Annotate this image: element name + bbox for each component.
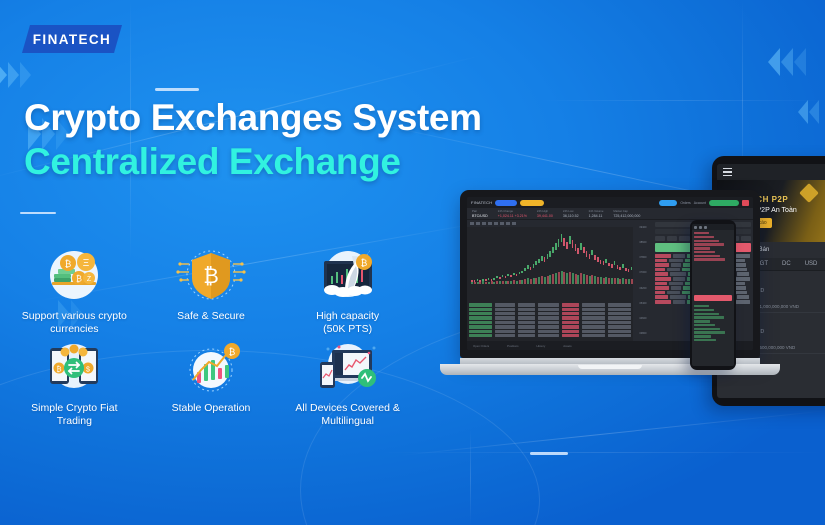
footer-tab-assets[interactable]: Assets [563, 344, 571, 348]
account-link[interactable]: Account [694, 201, 706, 205]
feature-item-safe-secure: ₿ Safe & Secure [143, 248, 280, 336]
stat-key: 24h Volume [589, 209, 604, 213]
feature-label: Stable Operation [172, 402, 251, 415]
market-data-table [467, 302, 633, 341]
phone-order-row [694, 240, 719, 242]
tab-futures[interactable] [520, 200, 544, 206]
phone-order-row [694, 232, 709, 234]
chart-toolbar[interactable] [467, 220, 633, 227]
stat-24h-low: 24h Low 36,110.52 [563, 209, 579, 218]
headline-line-1: Crypto Exchanges System [24, 98, 482, 139]
phone-orderbook-2 [692, 303, 734, 366]
phone-order-row [694, 258, 725, 260]
phone-order-row [694, 236, 714, 238]
app-topbar: FINATECH Orders Account [467, 197, 753, 208]
phone-order-row [694, 313, 719, 315]
pair-key: Pair [472, 209, 488, 213]
download-app-button[interactable] [709, 200, 739, 206]
brand-logo[interactable]: FINATECH [22, 25, 122, 53]
percent-step-button[interactable] [655, 236, 665, 241]
phone-order-row [694, 316, 724, 318]
bitcoin-shield-icon: ₿ [175, 248, 247, 306]
table-row [469, 312, 631, 315]
feature-item-stable-operation: ₿ Stable Operation [143, 340, 280, 428]
headline-line-2: Centralized Exchange [24, 139, 482, 185]
tablet-header [717, 164, 825, 180]
stat-market-cap: Market Cap 725,412,000,000 [613, 209, 640, 218]
phone-orderbook [692, 230, 734, 293]
stat-value: 36,110.52 [563, 214, 579, 218]
phone-order-row [694, 324, 715, 326]
pair-value: BTC/USD [472, 214, 488, 218]
phone-order-row [694, 251, 715, 253]
candlestick-chart-icon: ₿ [175, 340, 247, 398]
brand-logo-text: FINATECH [33, 32, 111, 47]
page-title: Crypto Exchanges System Centralized Exch… [24, 98, 482, 185]
stat-key: Market Cap [613, 209, 640, 213]
stat-key: 24h High [537, 209, 553, 213]
svg-text:₿: ₿ [360, 258, 367, 268]
stat-24h-high: 24h High 39,441.00 [537, 209, 553, 218]
svg-text:Ż: Ż [87, 274, 92, 283]
phone-order-row [694, 335, 711, 337]
phone-sell-button[interactable] [694, 295, 732, 301]
tab-ban[interactable]: Bán [759, 247, 770, 253]
feature-label: Simple Crypto Fiat Trading [14, 402, 134, 428]
phone-order-row [694, 328, 720, 330]
close-icon[interactable] [742, 200, 749, 206]
feature-item-fiat-trading: ₿ $ Simple Crypto Fiat Trading [6, 340, 143, 428]
app-logo: FINATECH [471, 200, 492, 205]
promotional-banner: FINATECH Crypto Exchanges System Central… [0, 0, 825, 525]
svg-text:₿: ₿ [57, 366, 62, 374]
stat-value: +1,024.11 +3.21% [498, 214, 527, 218]
svg-text:$: $ [86, 367, 90, 374]
feature-label: Safe & Secure [177, 310, 245, 323]
crypto-coins-cash-icon: ₿ Ξ ₿ Ż [38, 248, 110, 306]
table-row [469, 321, 631, 324]
phone-order-row [694, 320, 710, 322]
stat-value: 1,284.11 [589, 214, 604, 218]
svg-text:₿: ₿ [229, 347, 236, 357]
table-row [469, 316, 631, 319]
phone-screen [692, 224, 734, 366]
stat-key: 24h Low [563, 209, 579, 213]
coin-tab-usd[interactable]: USD [805, 261, 818, 267]
phone-order-row [694, 247, 710, 249]
svg-text:Ξ: Ξ [83, 258, 90, 269]
feature-label: All Devices Covered & Multilingual [288, 402, 408, 428]
feature-label: Support various crypto currencies [14, 310, 134, 336]
stat-24h-change: 24h Change +1,024.11 +3.21% [498, 209, 527, 218]
multi-device-icon [312, 340, 384, 398]
wallet-button[interactable] [659, 200, 677, 206]
orders-link[interactable]: Orders [680, 201, 690, 205]
phone-order-row [694, 331, 725, 333]
phone-order-row [694, 339, 716, 341]
rocket-monitor-icon: ₿ [312, 248, 384, 306]
feature-item-crypto-currencies: ₿ Ξ ₿ Ż Support various crypto currencie… [6, 248, 143, 336]
table-row [469, 325, 631, 328]
svg-text:₿: ₿ [203, 265, 219, 288]
table-row [469, 334, 631, 337]
stat-24h-volume: 24h Volume 1,284.11 [589, 209, 604, 218]
device-mockups: FINATECH P2P Giao dịch P2P An Toàn Đăng … [415, 150, 825, 415]
tab-spot[interactable] [495, 200, 517, 206]
percent-step-button[interactable] [741, 236, 751, 241]
feature-item-all-devices: All Devices Covered & Multilingual [279, 340, 416, 428]
footer-tab-positions[interactable]: Positions [507, 344, 518, 348]
chart-pane [467, 220, 633, 341]
footer-tab-open-orders[interactable]: Open Orders [473, 344, 489, 348]
phone-mockup [690, 220, 736, 370]
trading-pair[interactable]: Pair BTC/USD [472, 209, 488, 218]
table-row [469, 308, 631, 311]
stat-value: 725,412,000,000 [613, 214, 640, 218]
coin-tab-dc[interactable]: DC [782, 261, 791, 267]
stat-key: 24h Change [498, 209, 527, 213]
feature-list: ₿ Ξ ₿ Ż Support various crypto currencie… [6, 248, 416, 428]
phones-exchange-icon: ₿ $ [38, 340, 110, 398]
stat-value: 39,441.00 [537, 214, 553, 218]
footer-tab-history[interactable]: History [537, 344, 546, 348]
percent-step-button[interactable] [667, 236, 677, 241]
phone-order-row [694, 243, 724, 245]
phone-order-row [694, 255, 720, 257]
price-axis: 39400386003780037000 3620035400346003380… [633, 220, 653, 341]
feature-label: High capacity (50K PTS) [316, 310, 379, 336]
table-row [469, 330, 631, 333]
menu-icon[interactable] [723, 168, 732, 177]
price-chart[interactable] [467, 227, 633, 302]
phone-order-row [694, 305, 709, 307]
feature-item-high-capacity: ₿ High capacity (50K PTS) [279, 248, 416, 336]
table-row [469, 303, 631, 306]
percent-step-button[interactable] [679, 236, 689, 241]
svg-text:₿: ₿ [65, 259, 72, 269]
phone-order-row [694, 309, 714, 311]
market-stats-bar: Pair BTC/USD 24h Change +1,024.11 +3.21%… [467, 208, 753, 220]
svg-text:₿: ₿ [76, 275, 82, 284]
